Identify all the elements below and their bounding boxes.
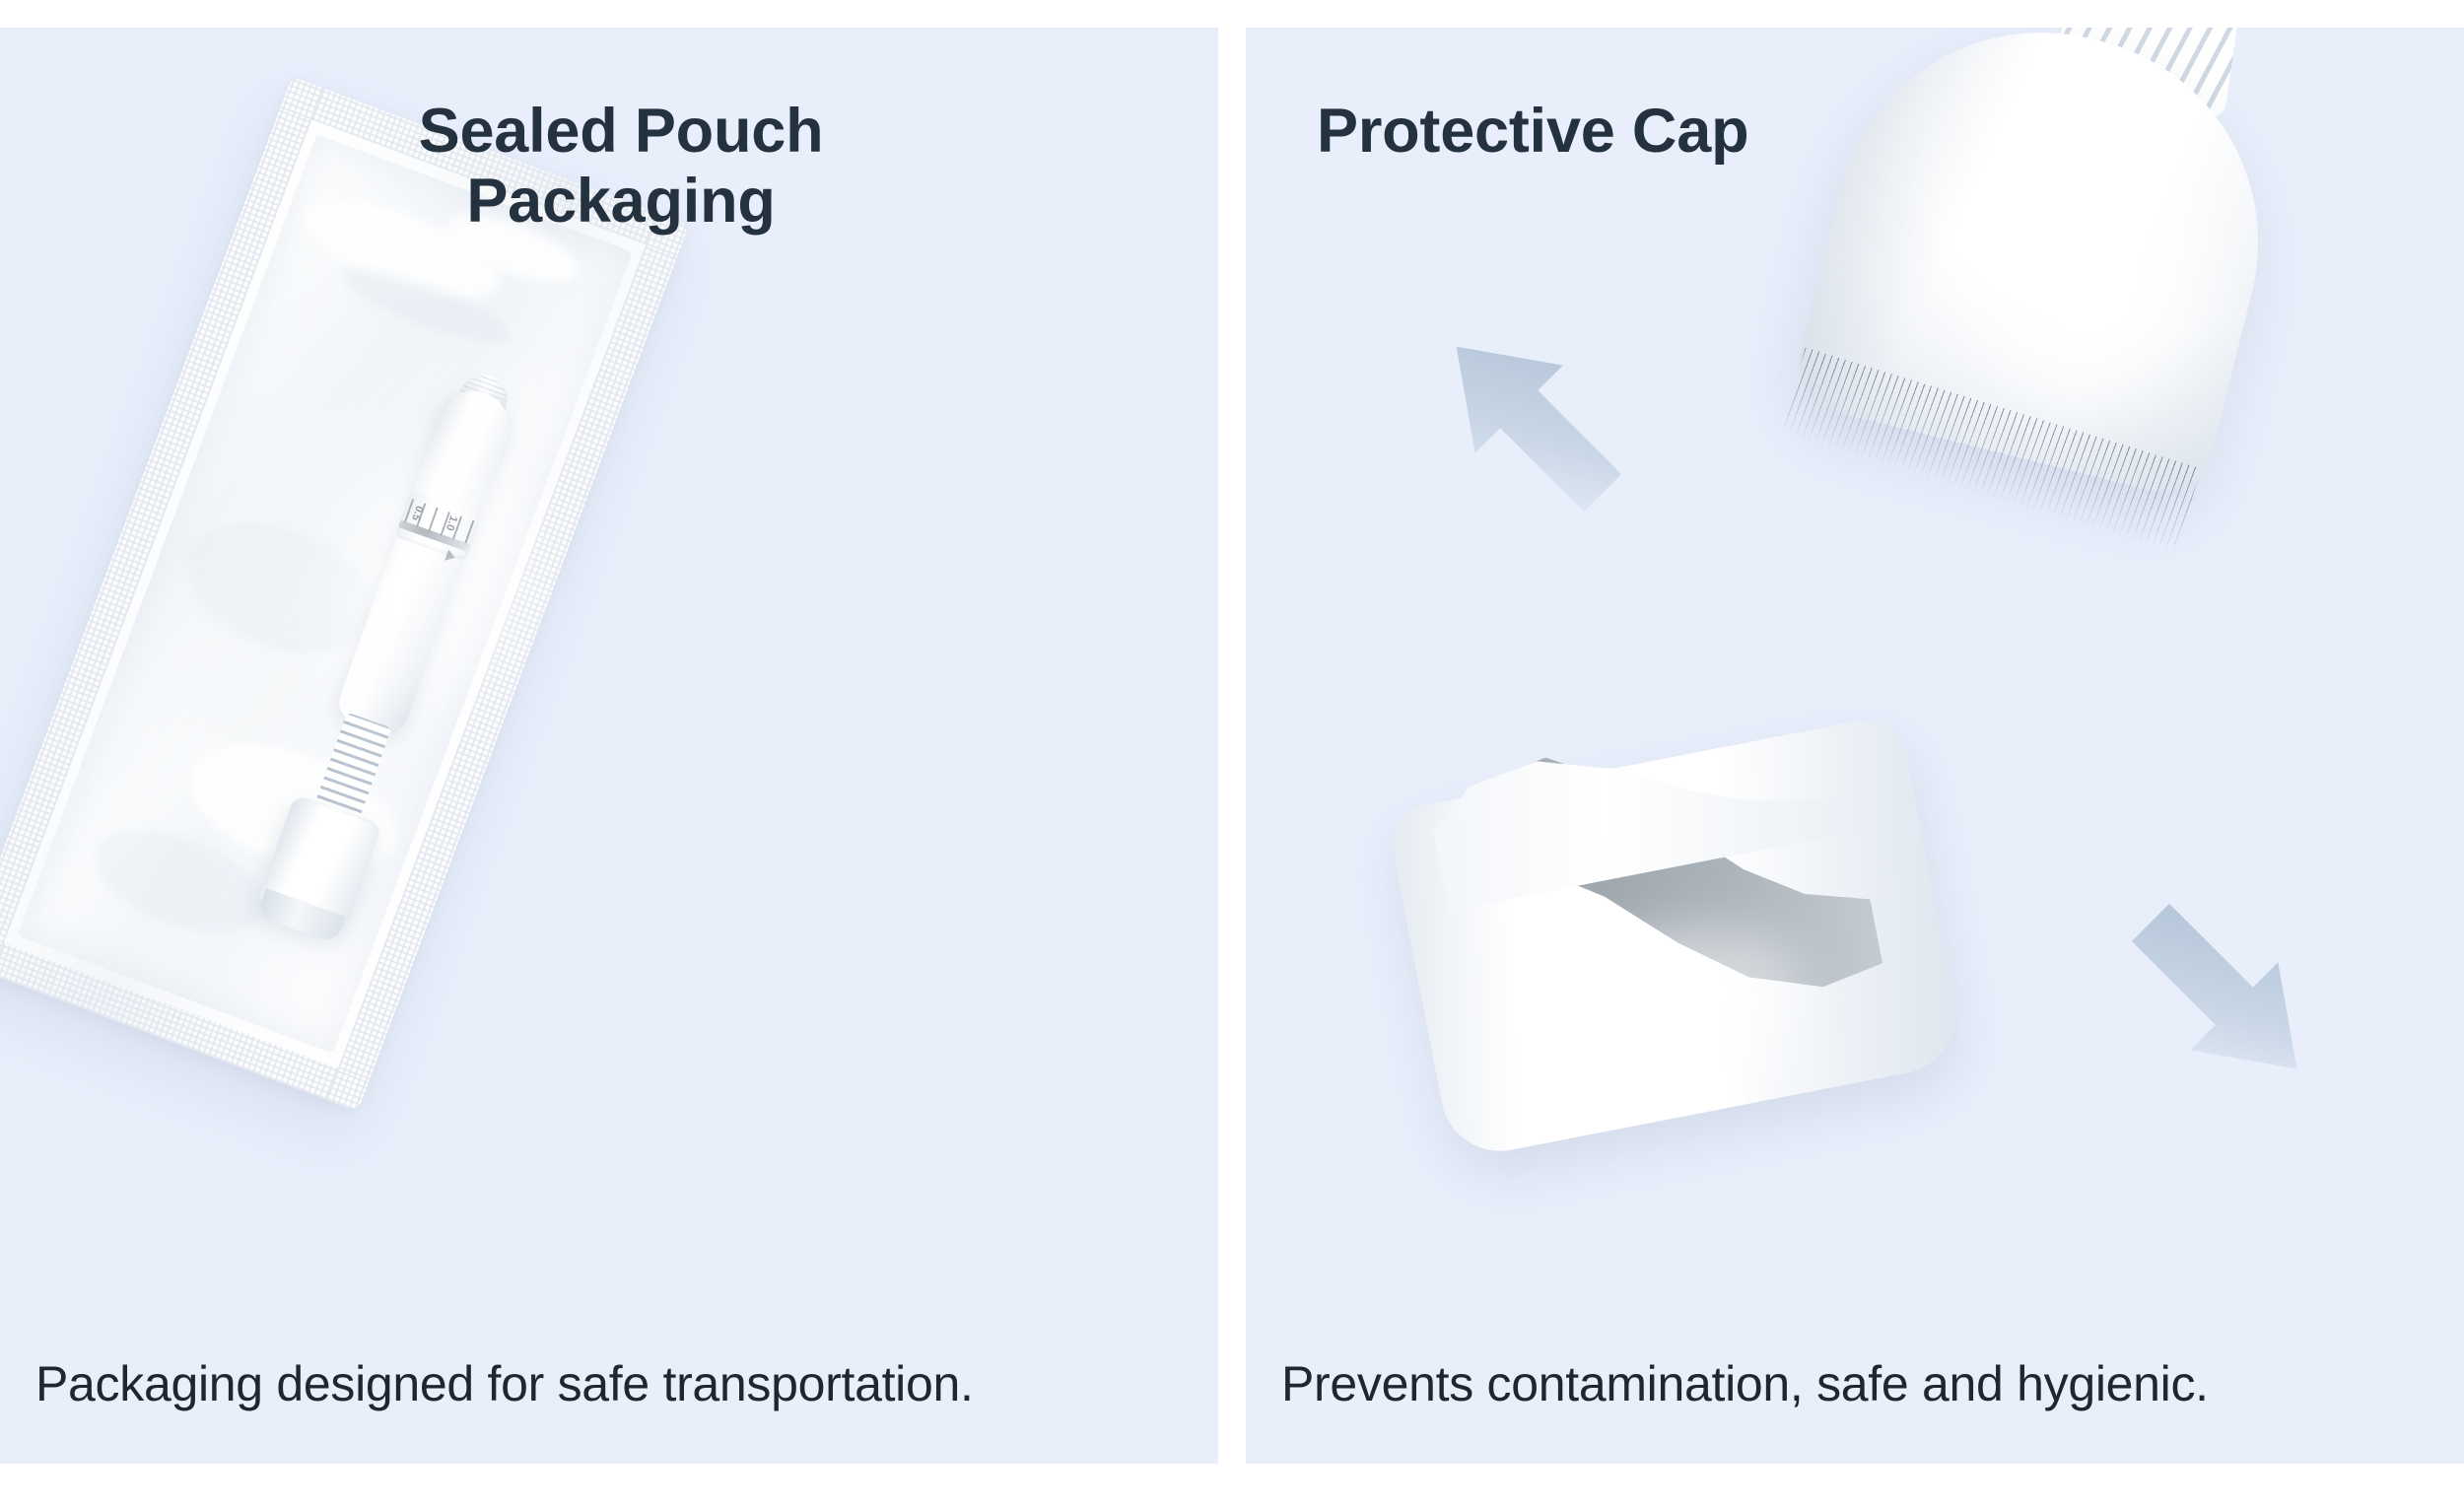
panel-protective-cap: Protective Cap Prevents contamination, s… bbox=[1246, 28, 2464, 1464]
panel-caption-protective-cap: Prevents contamination, safe and hygieni… bbox=[1281, 1355, 2209, 1412]
panel-sealed-pouch: 0.5 1.0 Sealed Pouch Packaging Packaging… bbox=[0, 28, 1218, 1464]
protective-cap-image bbox=[1378, 669, 2001, 1191]
arrow-down-detach-icon bbox=[2113, 885, 2340, 1112]
comparison-layout: 0.5 1.0 Sealed Pouch Packaging Packaging… bbox=[0, 0, 2464, 1510]
arrow-up-attach-icon bbox=[1413, 304, 1640, 530]
panel-caption-sealed-pouch: Packaging designed for safe transportati… bbox=[35, 1355, 974, 1412]
panel-title-sealed-pouch: Sealed Pouch Packaging bbox=[296, 97, 946, 236]
panel-title-protective-cap: Protective Cap bbox=[1317, 97, 2204, 167]
